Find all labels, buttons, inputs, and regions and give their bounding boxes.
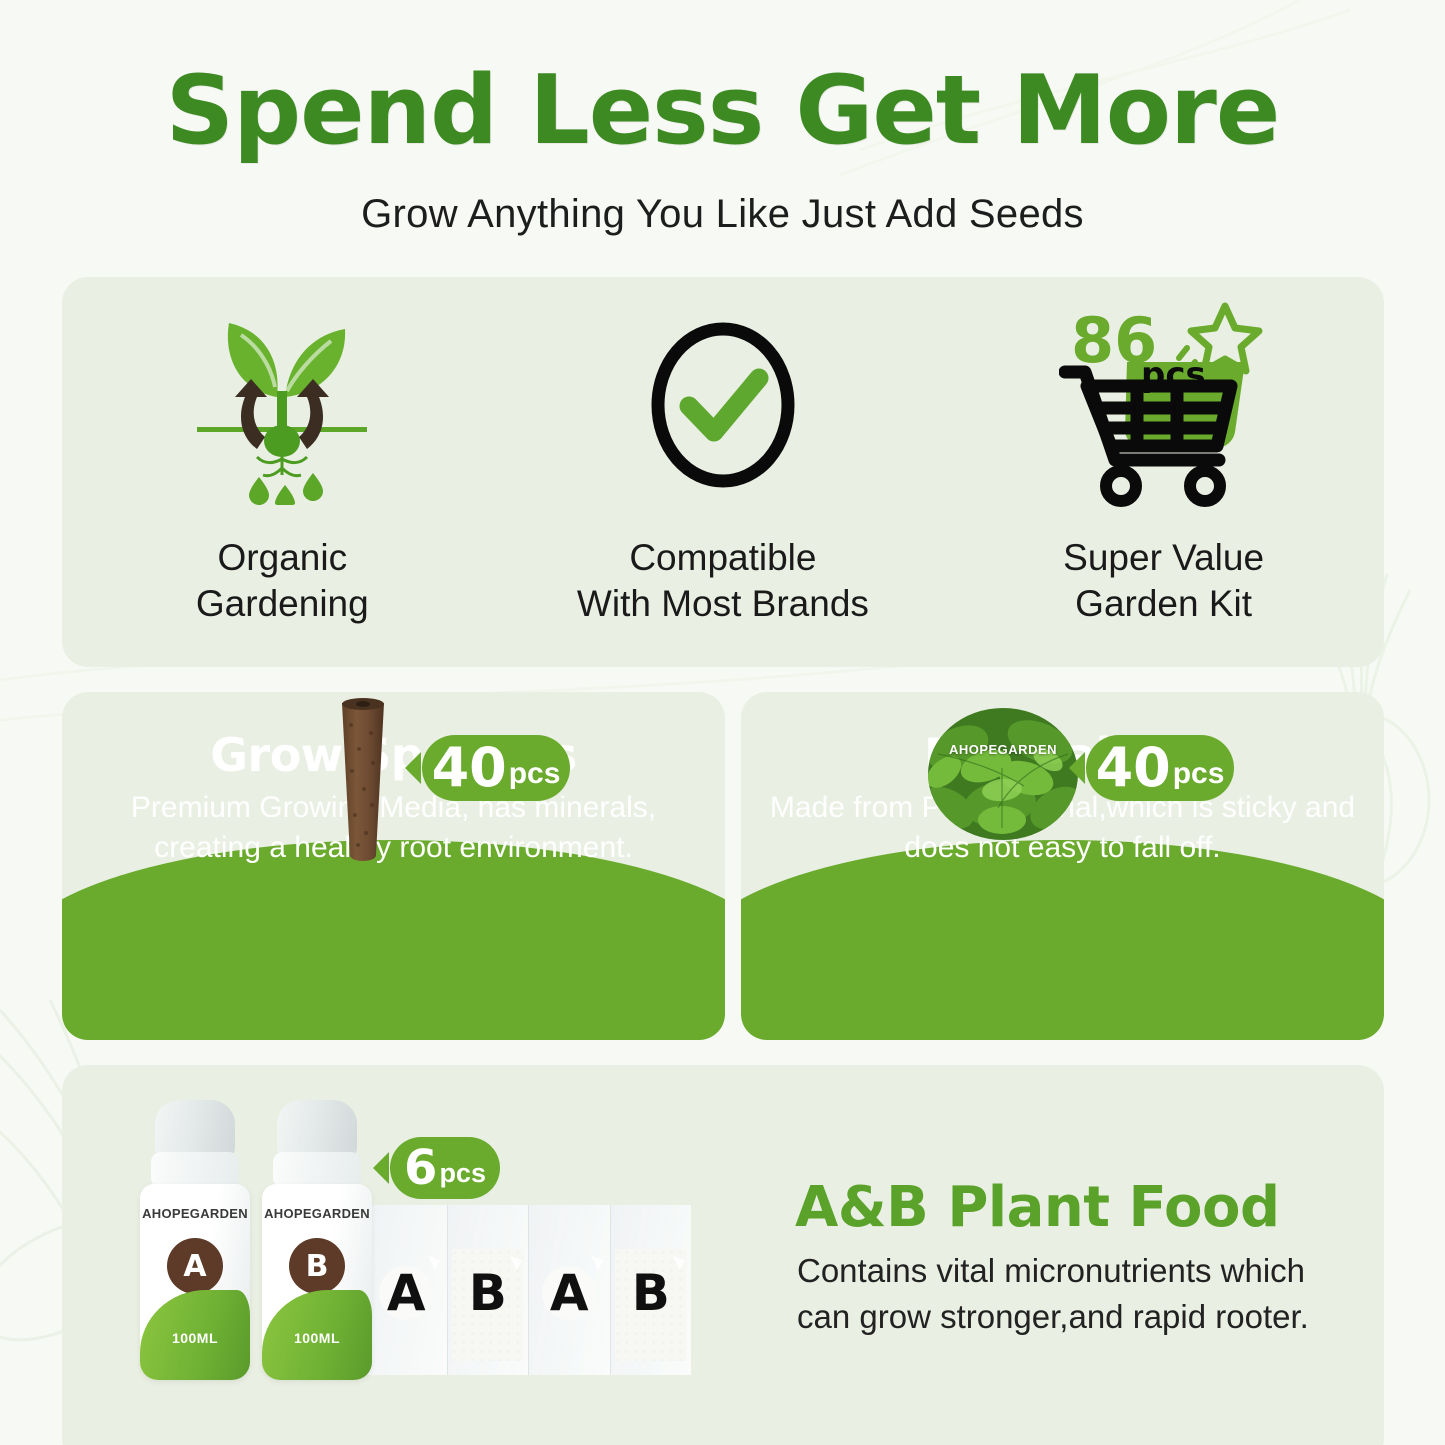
page-header: Spend Less Get More Grow Anything You Li… [0,62,1445,237]
sachet-a-1: A [366,1205,447,1375]
check-circle-icon [503,305,944,505]
bottle-volume: 100ML [140,1330,250,1346]
features-card: Organic Gardening Compatible With Most B… [62,277,1384,667]
organic-seedling-recycle-icon [62,305,503,505]
sachet-letter: B [632,1264,670,1322]
plant-food-pcs-badge: 6 pcs [390,1137,500,1199]
sachet-letter: B [469,1264,507,1322]
plant-food-sachets: A B A B [366,1205,691,1375]
pod-label-brand: AHOPEGARDEN [928,742,1078,757]
badge-number: 40 [1096,741,1171,795]
bottle-cap [277,1100,356,1158]
sachet-letter: A [387,1264,426,1322]
plant-food-bottle-b: AHOPEGARDEN B Plant Food 100ML [262,1100,372,1380]
feature-label-line1: Compatible [629,537,816,578]
badge-unit: pcs [1173,759,1225,789]
feature-label: Organic Gardening [62,535,503,628]
grow-sponges-pcs-badge: 40 pcs [422,735,570,801]
infographic-page: Spend Less Get More Grow Anything You Li… [0,0,1445,1445]
plant-food-description: Contains vital micronutrients which can … [797,1248,1317,1339]
grow-sponges-title: Grow Sponges [62,728,725,782]
grow-sponges-arc [62,840,725,1040]
sachet-letter: A [550,1264,589,1322]
grow-sponge-plug [333,697,393,867]
grow-sponges-card: Grow Sponges Premium Growing Media, has … [62,692,725,1040]
bottle-letter-badge: B [289,1238,345,1294]
shopping-cart-icon: 86 pcs [943,305,1384,505]
sachet-b-1: B [447,1205,529,1375]
feature-label-line2: Gardening [196,583,369,624]
feature-label-line2: With Most Brands [577,583,869,624]
grow-sponges-description: Premium Growing Media, has minerals, cre… [89,788,699,867]
feature-super-value-kit: 86 pcs Super Value [943,277,1384,667]
badge-number: 40 [432,741,507,795]
bottle-brand: AHOPEGARDEN [140,1206,250,1221]
pod-labels-pcs-badge: 40 pcs [1086,735,1234,801]
bottle-letter-badge: A [167,1238,223,1294]
plant-food-title: A&B Plant Food [795,1175,1280,1240]
bottle-brand: AHOPEGARDEN [262,1206,372,1221]
bottle-volume: 100ML [262,1330,372,1346]
feature-label-line2: Garden Kit [1075,583,1252,624]
pod-labels-arc [741,840,1384,1040]
bottle-neck [151,1152,239,1188]
feature-label-line1: Super Value [1063,537,1264,578]
badge-unit: pcs [439,1160,486,1187]
feature-label-line1: Organic [218,537,348,578]
plant-food-bottle-a: AHOPEGARDEN A Plant Food 100ML [140,1100,250,1380]
bottle-neck [273,1152,361,1188]
page-title: Spend Less Get More [0,62,1445,162]
bottle-body: AHOPEGARDEN A Plant Food 100ML [140,1184,250,1380]
badge-number: 6 [404,1144,437,1192]
bottle-body: AHOPEGARDEN B Plant Food 100ML [262,1184,372,1380]
feature-compatible-brands: Compatible With Most Brands [503,277,944,667]
feature-label: Super Value Garden Kit [943,535,1384,628]
page-subtitle: Grow Anything You Like Just Add Seeds [0,192,1445,237]
feature-organic-gardening: Organic Gardening [62,277,503,667]
feature-label: Compatible With Most Brands [503,535,944,628]
basil-pod-label-oval: AHOPEGARDEN [928,708,1078,840]
badge-unit: pcs [509,759,561,789]
sachet-b-2: B [610,1205,692,1375]
sachet-a-2: A [528,1205,610,1375]
bottle-cap [155,1100,234,1158]
